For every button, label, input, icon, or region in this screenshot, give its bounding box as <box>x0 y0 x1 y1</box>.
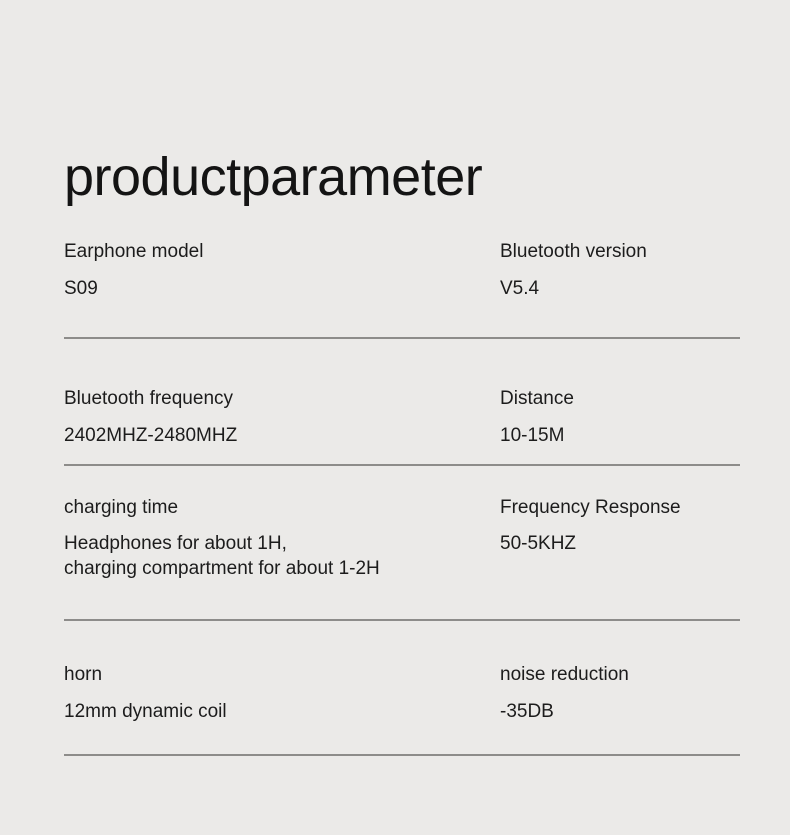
specification-table: Earphone model S09 Bluetooth version V5.… <box>0 240 790 756</box>
spec-row-cells: charging time Headphones for about 1H, c… <box>0 496 790 581</box>
spec-label: Distance <box>500 387 790 411</box>
spec-label: horn <box>64 663 500 687</box>
product-parameter-page: productparameter Earphone model S09 Blue… <box>0 0 790 835</box>
spec-row-cells: Bluetooth frequency 2402MHZ-2480MHZ Dist… <box>0 387 790 448</box>
spec-label: noise reduction <box>500 663 790 687</box>
spec-row: horn 12mm dynamic coil noise reduction -… <box>0 621 790 756</box>
spec-label: Bluetooth frequency <box>64 387 500 411</box>
spec-value: 12mm dynamic coil <box>64 700 500 724</box>
spec-value: S09 <box>64 277 500 301</box>
spec-value: -35DB <box>500 700 790 724</box>
spec-cell-left: Bluetooth frequency 2402MHZ-2480MHZ <box>64 387 500 448</box>
spec-label: Earphone model <box>64 240 500 264</box>
spec-value: 2402MHZ-2480MHZ <box>64 424 500 448</box>
spec-row: charging time Headphones for about 1H, c… <box>0 466 790 621</box>
spec-row-cells: Earphone model S09 Bluetooth version V5.… <box>0 240 790 301</box>
spec-label: Frequency Response <box>500 496 790 520</box>
spec-row: Earphone model S09 Bluetooth version V5.… <box>0 240 790 339</box>
spec-cell-right: Bluetooth version V5.4 <box>500 240 790 301</box>
spec-value: Headphones for about 1H, charging compar… <box>64 531 500 581</box>
spec-value: V5.4 <box>500 277 790 301</box>
spec-cell-right: Distance 10-15M <box>500 387 790 448</box>
spec-value: 10-15M <box>500 424 790 448</box>
spec-row-cells: horn 12mm dynamic coil noise reduction -… <box>0 663 790 724</box>
spec-cell-left: Earphone model S09 <box>64 240 500 301</box>
spec-cell-right: noise reduction -35DB <box>500 663 790 724</box>
page-title: productparameter <box>64 148 482 207</box>
spec-row: Bluetooth frequency 2402MHZ-2480MHZ Dist… <box>0 339 790 466</box>
row-divider <box>64 754 740 756</box>
spec-cell-left: charging time Headphones for about 1H, c… <box>64 496 500 581</box>
spec-cell-left: horn 12mm dynamic coil <box>64 663 500 724</box>
spec-cell-right: Frequency Response 50-5KHZ <box>500 496 790 581</box>
spec-label: charging time <box>64 496 500 520</box>
spec-value: 50-5KHZ <box>500 531 790 556</box>
spec-label: Bluetooth version <box>500 240 790 264</box>
